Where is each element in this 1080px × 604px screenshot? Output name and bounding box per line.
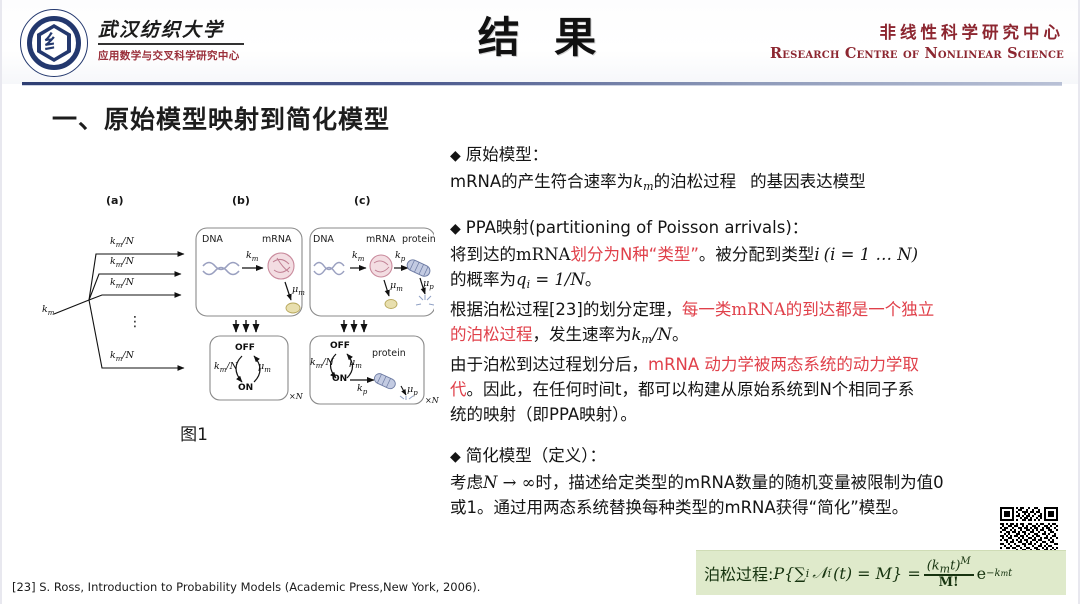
fig-c-dna-label: DNA	[313, 234, 334, 245]
fig-b-mu-m: μm	[292, 284, 305, 297]
ppa-line-5: 由于泊松到达过程划分后，mRNA 动力学被两态系统的动力学取	[450, 352, 1060, 377]
fig-c-protein-label: protein	[402, 234, 436, 245]
original-model-text-a: mRNA的产生符合速率为	[450, 172, 633, 191]
simplified-line-2: 或1。通过用两态系统替换每种类型的mRNA获得“简化”模型。	[450, 495, 1060, 520]
original-model-heading: 原始模型：	[466, 145, 549, 164]
presentation-slide: 纟 武汉纺织大学 应用数学与交叉科学研究中心 结 果 非线性科学研究中心 Res…	[0, 0, 1080, 604]
simp-l1-b: 时，描述给定类型的mRNA数量的随机变量被限制为值0	[536, 473, 944, 492]
ppa-l4-red: 的泊松过程	[450, 325, 533, 344]
formula-exp-sup: −k	[986, 568, 1000, 579]
formula-fraction: (kmt)M M!	[924, 557, 974, 590]
fig-a-vdots: ⋮	[128, 314, 142, 330]
ppa-l4-a: ，发生速率为	[533, 325, 632, 344]
fig-c-off-state: OFF	[330, 341, 350, 351]
diamond-bullet-icon-2: ◆	[450, 221, 461, 237]
body-block-simplified-model: ◆简化模型（定义）： 考虑N → ∞时，描述给定类型的mRNA数量的随机变量被限…	[450, 443, 1060, 520]
formula-denominator: M!	[936, 576, 962, 590]
ppa-l2-b: = 1/N	[530, 270, 585, 289]
reference-footnote: [23] S. Ross, Introduction to Probabilit…	[12, 580, 480, 594]
formula-lhs-sub: i	[806, 567, 810, 580]
original-model-km: k	[633, 172, 643, 191]
figure-diagram: (a) (b) (c) km km/N km/N km/N km/N ⋮ DNA…	[44, 196, 434, 411]
university-name-underline	[98, 43, 244, 45]
ppa-l4-c: 。	[672, 325, 689, 344]
research-centre-en: Research Centre of Nonlinear Science	[770, 44, 1064, 64]
ppa-l6-red: 代	[450, 380, 467, 399]
fig-c-mu-p: μp	[423, 278, 434, 291]
fig-c-mu-p-lower: μp	[407, 384, 418, 397]
bullet-line-simplified-heading: ◆简化模型（定义）：	[450, 443, 1060, 470]
fig-c-times-n: ×N	[425, 396, 439, 405]
formula-lhs-n: 𝒩	[812, 563, 827, 583]
ppa-l4-k-sub: m	[642, 333, 652, 346]
university-name-block: 武汉纺织大学 应用数学与交叉科学研究中心	[98, 18, 248, 63]
fig-a-rate-n: km/N	[110, 350, 134, 363]
bullet-line-ppa-heading: ◆PPA映射(partitioning of Poisson arrivals)…	[450, 215, 1060, 242]
fig-c-protein-lower-label: protein	[372, 348, 406, 359]
ppa-line-2: 的概率为qi = 1/N。	[450, 267, 1060, 297]
fig-b-dna-label: DNA	[202, 234, 223, 245]
fig-b-times-n: ×N	[289, 392, 303, 401]
original-model-km-sub: m	[643, 180, 653, 193]
fig-c-on-state: ON	[332, 374, 347, 384]
fig-b-off-state: OFF	[235, 343, 255, 353]
header-divider-secondary	[22, 85, 1062, 86]
panel-label-b: (b)	[232, 194, 250, 207]
ppa-l6-a: 。因此，在任何时间t，都可以构建从原始系统到N个相同子系	[467, 380, 915, 399]
slide-header: 纟 武汉纺织大学 应用数学与交叉科学研究中心 结 果 非线性科学研究中心 Res…	[2, 0, 1080, 84]
section-title: 一、原始模型映射到简化模型	[52, 100, 390, 136]
ppa-l2-a: 的概率为	[450, 270, 516, 289]
ppa-line-4: 的泊松过程，发生速率为km/N。	[450, 322, 1060, 352]
ppa-l4-b: /N	[652, 325, 672, 344]
formula-num-t: t)	[950, 558, 960, 573]
panel-label-c: (c)	[354, 194, 371, 207]
university-seal-logo: 纟	[20, 9, 90, 79]
ppa-l1-red: 划分为N种“类型”	[570, 245, 698, 264]
ppa-heading: PPA映射(partitioning of Poisson arrivals)：	[466, 218, 809, 237]
body-content: ◆原始模型： mRNA的产生符合速率为km的泊松过程的基因表达模型 ◆PPA映射…	[450, 142, 1060, 536]
fig-b-on-state: ON	[238, 383, 253, 393]
figure-caption: 图1	[44, 420, 344, 445]
panel-label-a: (a)	[106, 194, 123, 207]
fig-c-kp-lower: kp	[357, 383, 367, 396]
ppa-l2-q: q	[516, 270, 527, 289]
formula-numerator: (kmt)M	[924, 557, 974, 575]
formula-exp-sup-sub: m	[1001, 569, 1009, 578]
research-centre-cn: 非线性科学研究中心	[770, 22, 1064, 44]
body-block-original-model: ◆原始模型： mRNA的产生符合速率为km的泊松过程的基因表达模型	[450, 142, 1060, 199]
fig-c-mu-m-lower: μm	[349, 357, 362, 370]
formula-lhs-t: (t) = M} =	[833, 564, 921, 583]
ppa-l1-a: 将到达的mRNA	[450, 245, 570, 264]
formula-exp-base: e	[977, 564, 986, 583]
ppa-line-7: 统的映射（即PPA映射）。	[450, 402, 1060, 427]
diamond-bullet-icon: ◆	[450, 148, 461, 164]
ppa-l5-a: 由于泊松到达过程划分后，	[450, 355, 648, 374]
slide-title: 结 果	[442, 8, 642, 68]
fig-a-km-in: km	[42, 304, 54, 317]
ppa-l4-k: k	[632, 325, 642, 344]
simp-l1-a: 考虑	[450, 473, 483, 492]
fig-b-km-over-n: km/N	[214, 361, 238, 374]
fig-a-rate-3: km/N	[110, 277, 134, 290]
ppa-l5-red: mRNA 动力学被两态系统的动力学取	[648, 355, 919, 374]
simp-l1-n: N → ∞	[483, 473, 536, 492]
university-department-cn: 应用数学与交叉科学研究中心	[98, 48, 248, 63]
formula-num-sup: M	[960, 556, 970, 567]
ppa-line-3: 根据泊松过程[23]的划分定理，每一类mRNA的到达都是一个独立	[450, 297, 1060, 322]
poisson-formula-label: 泊松过程:	[704, 561, 773, 585]
original-model-text-b: 的泊松过程	[654, 172, 737, 191]
simplified-heading: 简化模型（定义）：	[466, 446, 606, 465]
ppa-l3-a: 根据泊松过程[23]的划分定理，	[450, 300, 682, 319]
fig-c-km: km	[352, 250, 364, 263]
poisson-formula-math: P{∑i𝒩i(t) = M} = (kmt)M M! e−kmt	[773, 557, 1012, 590]
ppa-l2-c: 。	[585, 270, 602, 289]
formula-num-sub: m	[940, 562, 950, 575]
fig-b-km: km	[246, 250, 258, 263]
fig-c-mrna-label: mRNA	[366, 234, 395, 245]
original-model-text-c: 的基因表达模型	[750, 172, 866, 191]
bullet-line-original-heading: ◆原始模型：	[450, 142, 1060, 169]
formula-lhs: P{∑	[773, 564, 805, 583]
fig-c-km-over-n: km/N	[310, 357, 334, 370]
poisson-formula-box: 泊松过程: P{∑i𝒩i(t) = M} = (kmt)M M! e−kmt R…	[696, 550, 1066, 595]
fig-a-rate-2: km/N	[110, 256, 134, 269]
fig-c-mu-m: μm	[390, 280, 403, 293]
body-block-ppa-mapping: ◆PPA映射(partitioning of Poisson arrivals)…	[450, 215, 1060, 427]
ppa-line-6: 代。因此，在任何时间t，都可以构建从原始系统到N个相同子系	[450, 377, 1060, 402]
formula-lhs-n-sub: i	[828, 567, 832, 580]
ppa-l1-i: i	[814, 245, 819, 264]
formula-num-open: (k	[927, 558, 940, 573]
ppa-l3-red: 每一类mRNA的到达都是一个独立	[682, 300, 934, 319]
university-name-cn: 武汉纺织大学	[98, 18, 248, 42]
seal-glyph: 纟	[20, 27, 88, 57]
fig-b-mrna-label: mRNA	[262, 234, 291, 245]
bullet-line-original-detail: mRNA的产生符合速率为km的泊松过程的基因表达模型	[450, 169, 1060, 199]
ppa-line-1: 将到达的mRNA划分为N种“类型”。被分配到类型i(i = 1 … N)	[450, 242, 1060, 267]
ppa-l1-paren: (i = 1 … N)	[824, 245, 918, 264]
formula-exp-sup-t: t	[1008, 568, 1012, 579]
fig-c-kp: kp	[395, 250, 405, 263]
fig-a-rate-1: km/N	[110, 236, 134, 249]
simplified-line-1: 考虑N → ∞时，描述给定类型的mRNA数量的随机变量被限制为值0	[450, 470, 1060, 495]
diamond-bullet-icon-3: ◆	[450, 449, 461, 465]
figure-svg	[44, 196, 434, 411]
research-centre-block: 非线性科学研究中心 Research Centre of Nonlinear S…	[770, 22, 1064, 64]
ppa-l1-b: 。被分配到类型	[699, 245, 815, 264]
fig-b-mu-m-lower: μm	[258, 361, 271, 374]
